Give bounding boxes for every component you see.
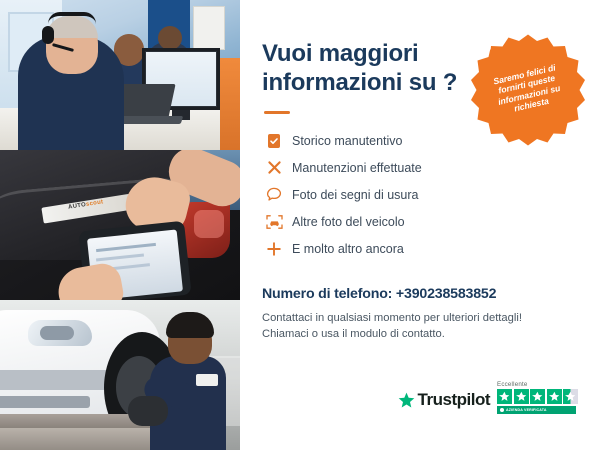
star-filled bbox=[530, 389, 545, 404]
mechanic-wheel-service-photo bbox=[0, 300, 240, 450]
checklist-icon bbox=[262, 133, 286, 149]
headset-band bbox=[48, 12, 96, 24]
list-item-label: Altre foto del veicolo bbox=[292, 215, 405, 229]
title-divider bbox=[264, 111, 290, 114]
lower-grille bbox=[0, 396, 90, 408]
star-filled bbox=[547, 389, 562, 404]
plus-icon bbox=[262, 241, 286, 257]
call-center-agents-photo bbox=[0, 0, 240, 150]
verified-business-badge: AZIENDA VERIFICATA bbox=[497, 406, 576, 414]
rating-word: Eccellente bbox=[497, 381, 528, 388]
orange-partition bbox=[220, 58, 240, 150]
badge-text: Saremo felici di fornirti queste informa… bbox=[478, 59, 577, 121]
vehicle-inspection-tablet-photo: AUTOscout bbox=[0, 150, 240, 300]
trustpilot-wordmark: Trustpilot bbox=[418, 390, 490, 410]
list-item-label: Manutenzioni effettuate bbox=[292, 161, 422, 175]
phone-number-line: Numero di telefono: +390238583852 bbox=[262, 286, 578, 302]
mechanic-glove bbox=[128, 396, 168, 426]
tools-cross-icon bbox=[262, 159, 286, 176]
verified-business-label: AZIENDA VERIFICATA bbox=[506, 408, 547, 412]
car-scan-frame-icon bbox=[262, 214, 286, 230]
callout-badge: Saremo felici di fornirti queste informa… bbox=[470, 32, 586, 148]
headline-line-2: informazioni su ? bbox=[262, 69, 457, 96]
list-item: Manutenzioni effettuate bbox=[262, 155, 578, 181]
trustpilot-logo: Trustpilot bbox=[398, 390, 490, 414]
star-filled bbox=[497, 389, 512, 404]
contact-subtext-line-2: Chiamaci o usa il modulo di contatto. bbox=[262, 328, 445, 340]
verified-check-icon bbox=[500, 408, 504, 412]
content-panel: Vuoi maggiori informazioni su ? Storico … bbox=[240, 0, 600, 450]
trustpilot-score: Eccellente bbox=[497, 381, 578, 415]
tail-light-glass bbox=[194, 210, 224, 238]
contact-subtext-line-1: Contattaci in qualsiasi momento per ulte… bbox=[262, 312, 522, 324]
uniform-logo bbox=[196, 374, 218, 386]
trustpilot-rating[interactable]: Trustpilot Eccellente bbox=[398, 381, 578, 415]
front-grille bbox=[0, 370, 112, 390]
contact-subtext: Contattaci in qualsiasi momento per ulte… bbox=[262, 310, 578, 344]
list-item-label: Storico manutentivo bbox=[292, 134, 402, 148]
star-half bbox=[563, 389, 578, 404]
list-item: E molto altro ancora bbox=[262, 236, 578, 262]
list-item-label: Foto dei segni di usura bbox=[292, 188, 418, 202]
promo-advertisement: AUTOscout bbox=[0, 0, 600, 450]
list-item: Altre foto del veicolo bbox=[262, 209, 578, 235]
star-rating bbox=[497, 389, 578, 404]
wall-poster bbox=[193, 6, 225, 50]
headline-line-1: Vuoi maggiori bbox=[262, 40, 419, 67]
list-item: Foto dei segni di usura bbox=[262, 182, 578, 208]
trustpilot-star-icon bbox=[398, 392, 415, 409]
photo-column: AUTOscout bbox=[0, 0, 240, 450]
background-agent-2-head bbox=[158, 26, 182, 50]
headlight-inner bbox=[40, 326, 74, 340]
list-item-label: E molto altro ancora bbox=[292, 242, 404, 256]
star-filled bbox=[514, 389, 529, 404]
speech-bubble-icon bbox=[262, 187, 286, 202]
headset-earcup bbox=[42, 26, 54, 44]
